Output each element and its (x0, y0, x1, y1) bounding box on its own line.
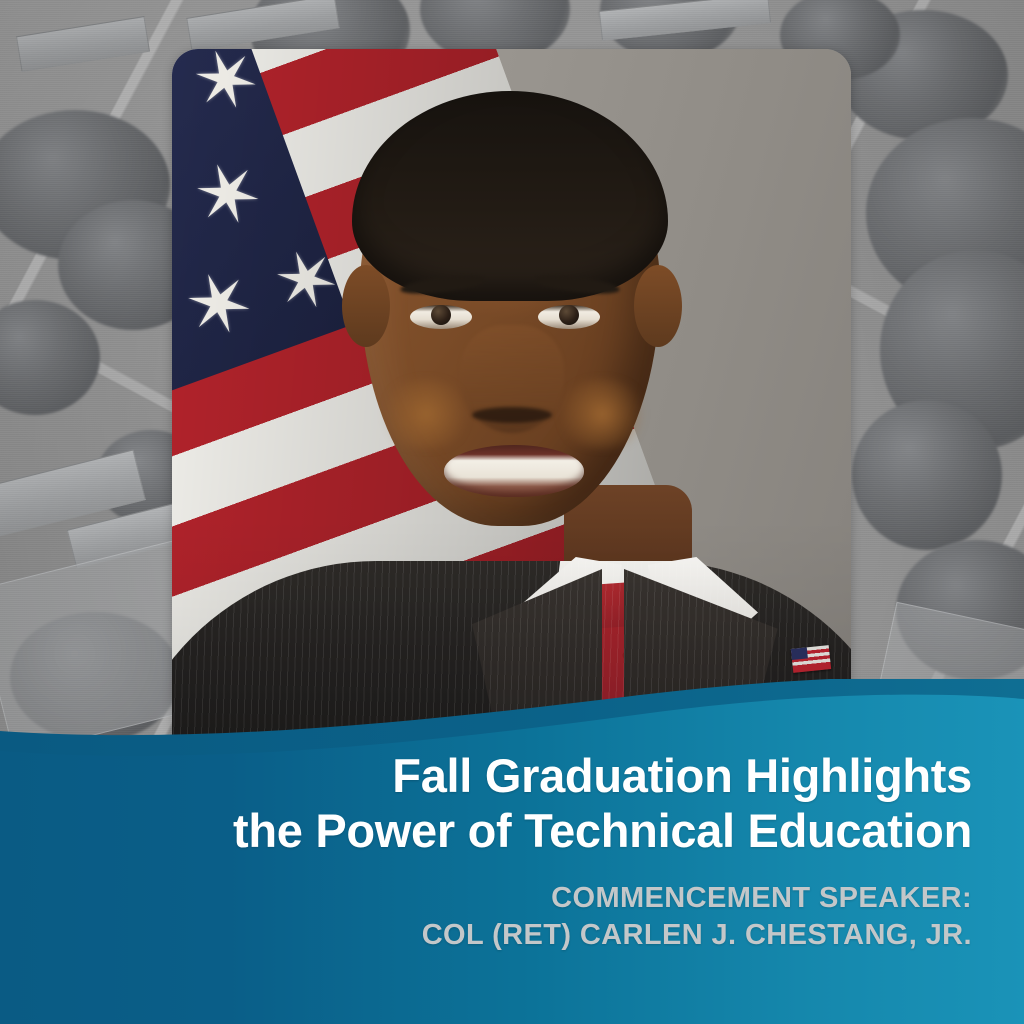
speaker-subtitle: COMMENCEMENT SPEAKER: COL (RET) CARLEN J… (422, 880, 972, 954)
subtitle-line-1: COMMENCEMENT SPEAKER: (551, 882, 972, 914)
headline-line-2: the Power of Technical Education (233, 803, 972, 858)
banner-text-block: Fall Graduation Highlights the Power of … (0, 679, 1024, 1024)
subtitle-line-2: COL (RET) CARLEN J. CHESTANG, JR. (422, 917, 972, 954)
commencement-speaker-portrait: ✶ ✶ ✶ ✶ ✶ ✶ ✶ ✶ ✶ ✶ ✶ ✶ ✶ ✶ (172, 49, 851, 739)
portrait-shading (172, 49, 851, 739)
headline: Fall Graduation Highlights the Power of … (233, 748, 972, 859)
poster-canvas: ✶ ✶ ✶ ✶ ✶ ✶ ✶ ✶ ✶ ✶ ✶ ✶ ✶ ✶ (0, 0, 1024, 1024)
headline-line-1: Fall Graduation Highlights (392, 749, 972, 802)
title-banner: Fall Graduation Highlights the Power of … (0, 679, 1024, 1024)
